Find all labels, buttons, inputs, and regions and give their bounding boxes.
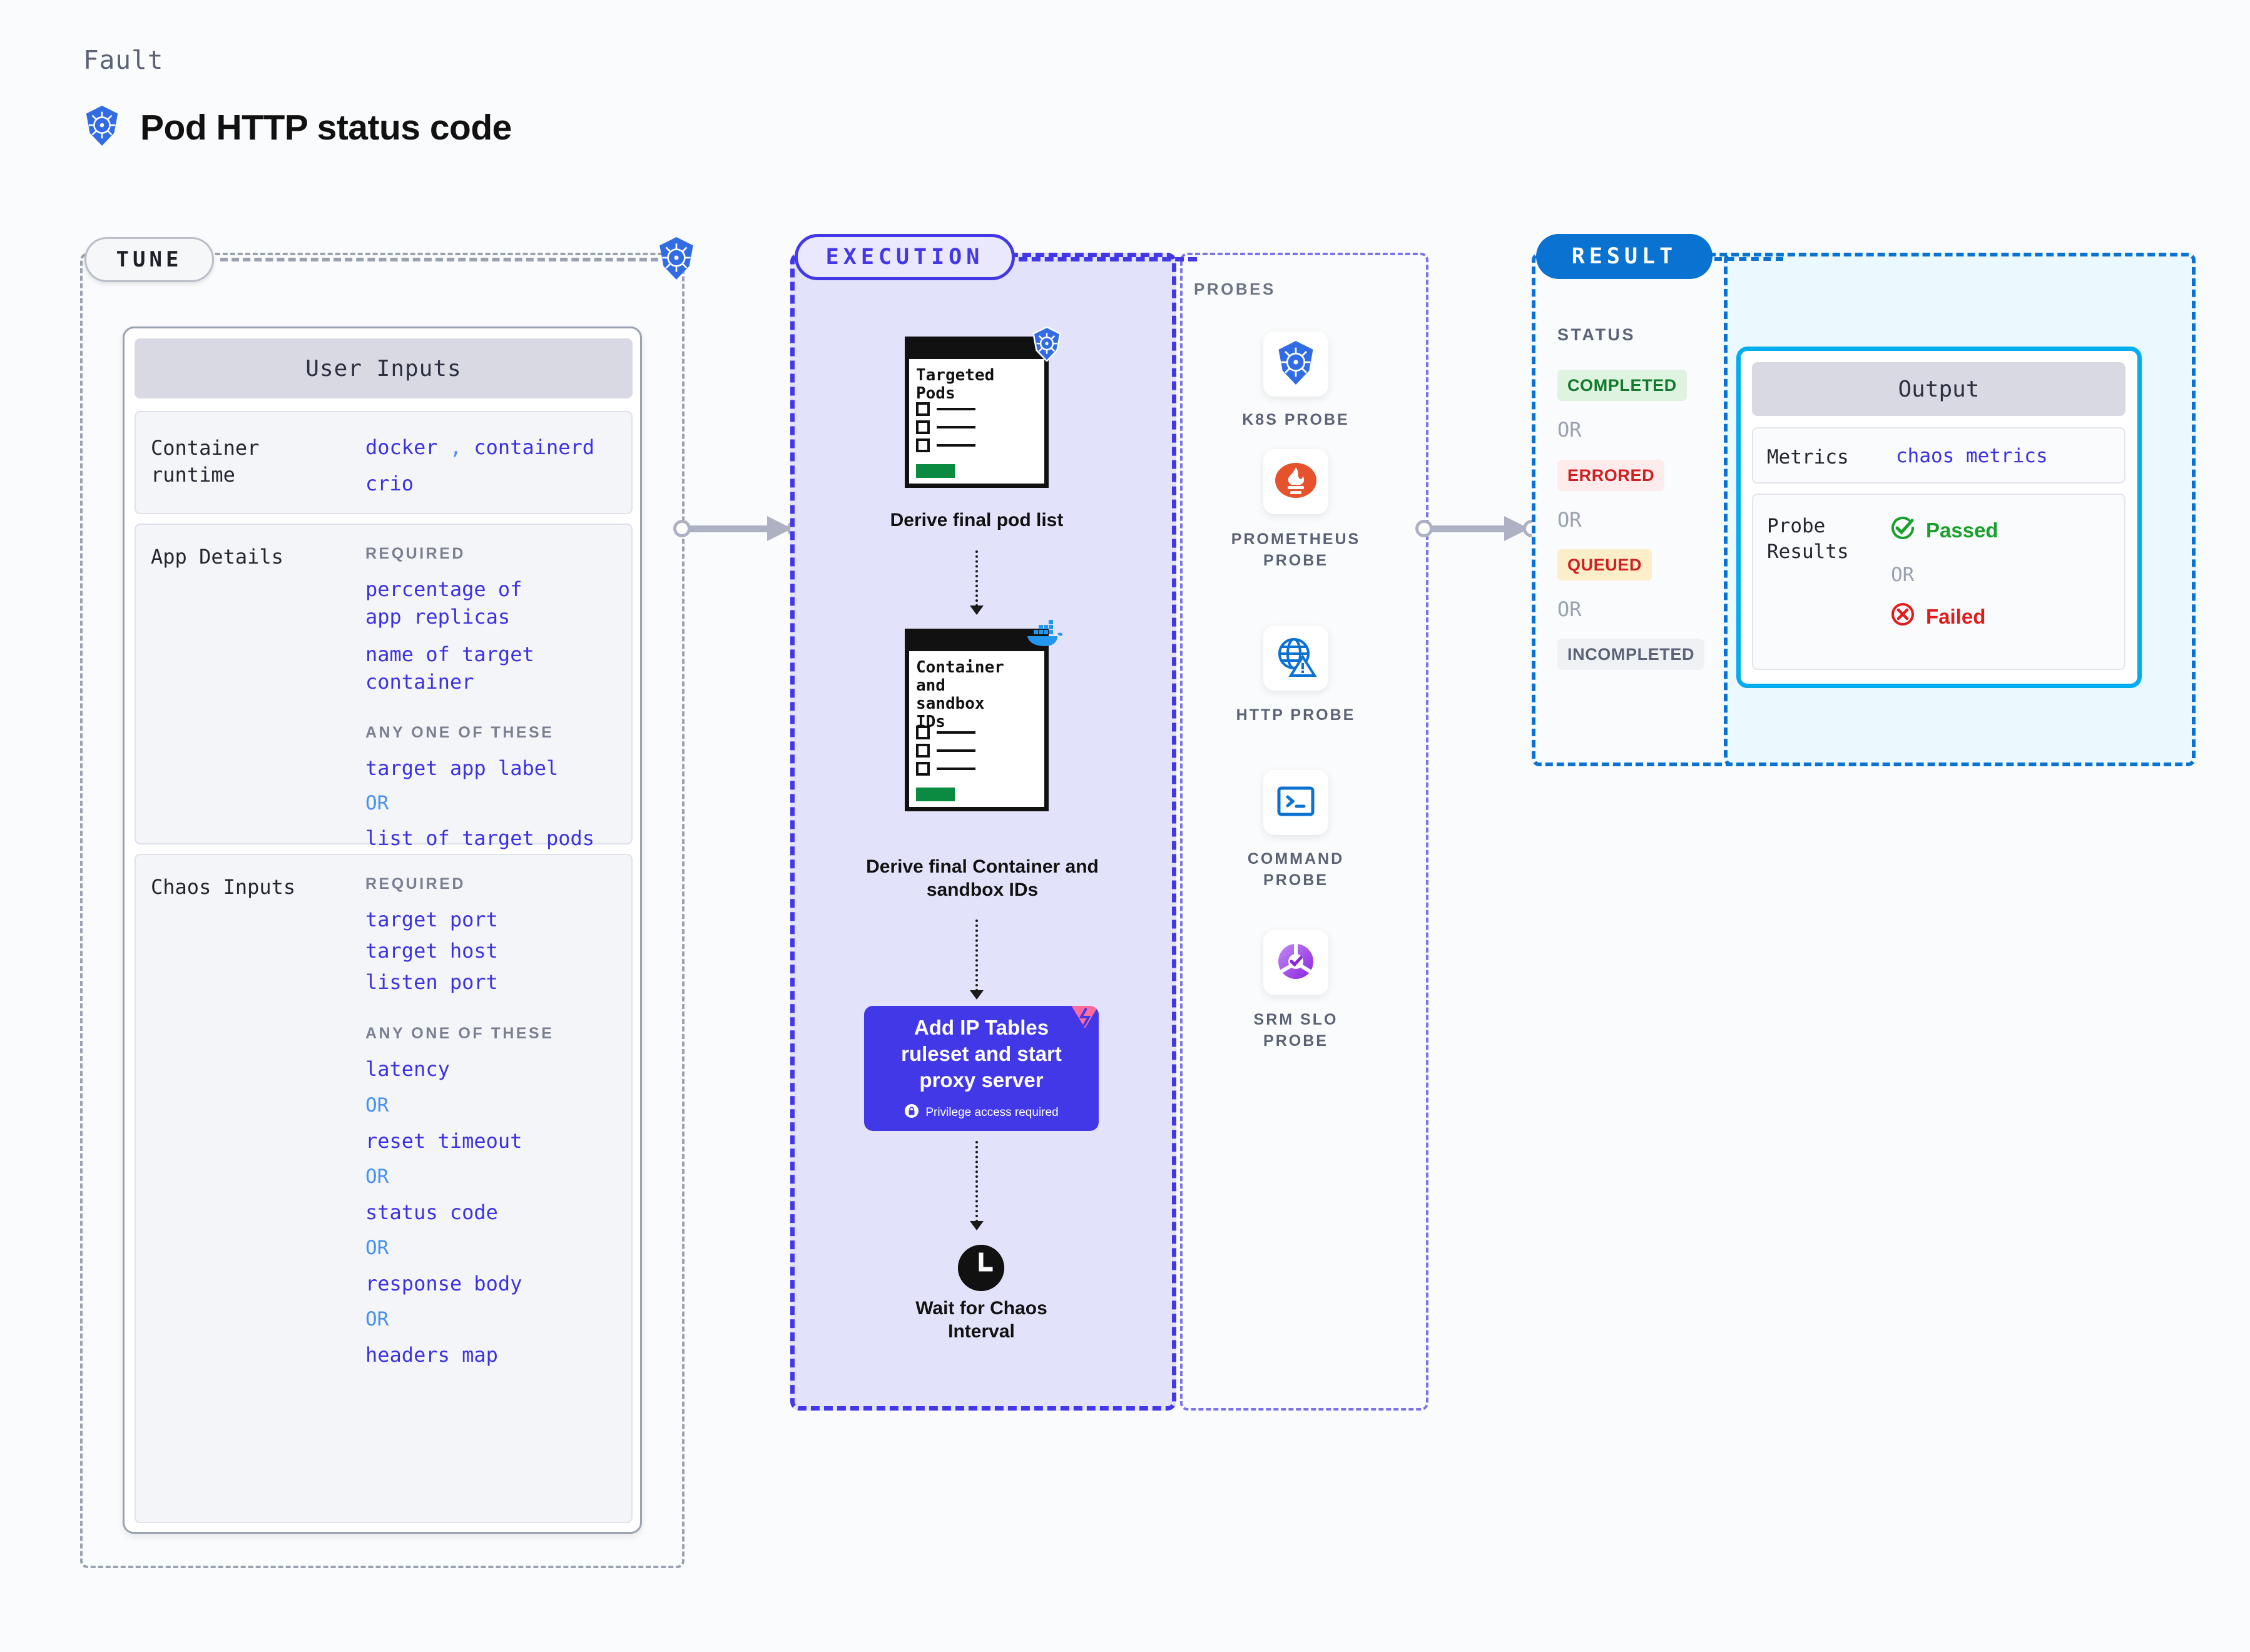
chaos-or-4: OR xyxy=(365,1308,619,1330)
output-card: Output Metrics chaos metrics Probe Resul… xyxy=(1736,347,2142,688)
kubernetes-icon xyxy=(1274,340,1318,388)
chaos-inputs-section: Chaos Inputs REQUIRED target port target… xyxy=(135,854,633,1523)
execution-connector-dash xyxy=(1019,257,1197,261)
kubernetes-icon xyxy=(654,236,698,280)
probe-result-passed: Passed xyxy=(1890,515,1998,546)
docker-icon xyxy=(1026,620,1062,652)
app-details-section: App Details REQUIRED percentage of app r… xyxy=(135,524,633,844)
arrow-probes-to-result xyxy=(1415,516,1540,541)
terminal-icon xyxy=(1275,784,1316,821)
status-or-1: OR xyxy=(1557,418,1582,442)
fault-kicker: Fault xyxy=(83,45,163,75)
slo-donut-icon xyxy=(1275,940,1317,986)
flow-arrow-2 xyxy=(975,920,978,991)
kubernetes-icon xyxy=(1030,327,1064,365)
probe-results-label: Probe Results xyxy=(1767,514,1849,565)
app-detail-target-container-name: name of target container xyxy=(365,641,553,696)
status-badge-errored: ERRORED xyxy=(1557,460,1664,491)
targeted-pods-caption: Derive final pod list xyxy=(864,509,1089,532)
tune-connector-dash xyxy=(220,258,658,261)
output-probe-results-row: Probe Results Passed OR Failed xyxy=(1752,494,2125,670)
app-detail-percentage-replicas: percentage of app replicas xyxy=(365,575,553,631)
user-inputs-title: User Inputs xyxy=(135,338,633,398)
doc-checklist xyxy=(916,726,975,780)
probe-tile-srm-slo[interactable] xyxy=(1263,930,1328,995)
tune-tag: TUNE xyxy=(84,237,214,282)
app-details-required-heading: REQUIRED xyxy=(365,545,619,563)
probe-tile-command[interactable] xyxy=(1263,770,1328,835)
runtime-value-docker: docker xyxy=(365,435,438,459)
probe-tile-prometheus[interactable] xyxy=(1263,449,1328,514)
chaos-or-2: OR xyxy=(365,1165,619,1188)
container-runtime-values: docker , containerd crio xyxy=(365,433,619,497)
result-connector-dash xyxy=(1714,257,1783,261)
result-tag: RESULT xyxy=(1536,234,1713,279)
litmus-icon xyxy=(1067,1006,1099,1034)
container-sandbox-caption: Derive final Container and sandbox IDs xyxy=(832,856,1133,901)
probe-tile-k8s[interactable] xyxy=(1263,332,1328,397)
probe-caption-prometheus: PROMETHEUS PROBE xyxy=(1214,529,1377,572)
runtime-value-containerd: containerd xyxy=(474,435,594,459)
privilege-note: Privilege access required xyxy=(904,1103,1058,1122)
arrow-tune-to-execution xyxy=(673,516,805,541)
app-detail-target-app-label: target app label xyxy=(365,754,619,782)
globe-warning-icon xyxy=(1275,636,1317,681)
probe-result-failed: Failed xyxy=(1890,601,1985,632)
probe-tile-http[interactable] xyxy=(1263,626,1328,691)
clock-icon xyxy=(958,1245,1004,1291)
page-title-row: Pod HTTP status code xyxy=(83,105,512,149)
chaos-anyone-heading: ANY ONE OF THESE xyxy=(365,1025,619,1043)
metrics-value: chaos metrics xyxy=(1896,445,2048,467)
value-separator: , xyxy=(450,435,462,459)
chaos-input-listen-port: listen port xyxy=(365,968,619,996)
flow-arrow-1 xyxy=(975,550,978,607)
app-detail-list-target-pods: list of target pods xyxy=(365,824,619,852)
targeted-pods-node: Targeted Pods xyxy=(905,337,1049,488)
output-title: Output xyxy=(1752,362,2125,416)
probe-caption-http: HTTP PROBE xyxy=(1214,705,1377,726)
app-details-values: REQUIRED percentage of app replicas name… xyxy=(365,545,619,852)
doc-checklist xyxy=(916,402,975,457)
app-details-or-1: OR xyxy=(365,792,619,814)
probe-caption-srm-slo: SRM SLO PROBE xyxy=(1214,1010,1377,1052)
chaos-or-1: OR xyxy=(365,1094,619,1117)
container-runtime-section: Container runtime docker , containerd cr… xyxy=(135,411,633,514)
add-iptables-node: Add IP Tables ruleset and start proxy se… xyxy=(864,1006,1099,1131)
doc-status-bar xyxy=(916,788,955,801)
output-metrics-row: Metrics chaos metrics xyxy=(1752,427,2125,484)
probe-caption-k8s: K8S PROBE xyxy=(1214,410,1377,431)
check-circle-icon xyxy=(1890,515,1916,546)
failed-text: Failed xyxy=(1926,605,1985,629)
passed-text: Passed xyxy=(1926,519,1998,542)
chaos-input-headers-map: headers map xyxy=(365,1341,619,1369)
runtime-value-crio: crio xyxy=(365,470,619,497)
container-sandbox-ids-node: Container and sandbox IDs xyxy=(905,629,1049,811)
wait-chaos-interval-caption: Wait for Chaos Interval xyxy=(870,1297,1092,1343)
add-iptables-title: Add IP Tables ruleset and start proxy se… xyxy=(880,1015,1083,1094)
chaos-input-response-body: response body xyxy=(365,1270,619,1297)
privilege-note-text: Privilege access required xyxy=(925,1106,1058,1120)
app-details-label: App Details xyxy=(151,544,283,570)
chaos-input-target-host: target host xyxy=(365,937,619,965)
status-badge-completed: COMPLETED xyxy=(1557,370,1687,401)
chaos-required-heading: REQUIRED xyxy=(365,875,619,893)
status-or-3: OR xyxy=(1557,597,1582,621)
lock-icon xyxy=(904,1103,919,1122)
execution-tag: EXECUTION xyxy=(795,234,1015,280)
status-badge-incompleted: INCOMPLETED xyxy=(1557,639,1704,670)
chaos-input-status-code: status code xyxy=(365,1198,619,1226)
container-runtime-label: Container runtime xyxy=(151,435,259,489)
probe-caption-command: COMMAND PROBE xyxy=(1214,849,1377,891)
doc-status-bar xyxy=(916,464,955,478)
chaos-input-target-port: target port xyxy=(365,906,619,933)
user-inputs-card: User Inputs Container runtime docker , c… xyxy=(123,327,642,1534)
chaos-or-3: OR xyxy=(365,1237,619,1259)
page-title: Pod HTTP status code xyxy=(140,107,512,148)
chaos-inputs-label: Chaos Inputs xyxy=(151,874,295,901)
probes-label: PROBES xyxy=(1194,280,1276,299)
kubernetes-icon xyxy=(83,105,121,149)
flow-arrow-3-head xyxy=(970,1221,984,1230)
flow-arrow-3 xyxy=(975,1141,978,1222)
targeted-pods-doc-title: Targeted Pods xyxy=(916,367,1041,403)
status-badge-queued: QUEUED xyxy=(1557,549,1652,580)
probe-results-or: OR xyxy=(1891,564,1914,586)
chaos-inputs-values: REQUIRED target port target host listen … xyxy=(365,875,619,1369)
metrics-label: Metrics xyxy=(1767,445,1849,470)
container-sandbox-doc-title: Container and sandbox IDs xyxy=(916,659,1041,731)
flow-arrow-1-head xyxy=(970,606,984,615)
chaos-input-reset-timeout: reset timeout xyxy=(365,1127,619,1155)
app-details-anyone-heading: ANY ONE OF THESE xyxy=(365,724,619,742)
flow-arrow-2-head xyxy=(970,990,984,1000)
status-or-2: OR xyxy=(1557,508,1582,532)
prometheus-icon xyxy=(1274,459,1318,505)
runtime-values-line1: docker , containerd xyxy=(365,433,619,461)
chaos-input-latency: latency xyxy=(365,1055,619,1083)
x-circle-icon xyxy=(1890,601,1916,632)
status-label: STATUS xyxy=(1557,325,1636,345)
